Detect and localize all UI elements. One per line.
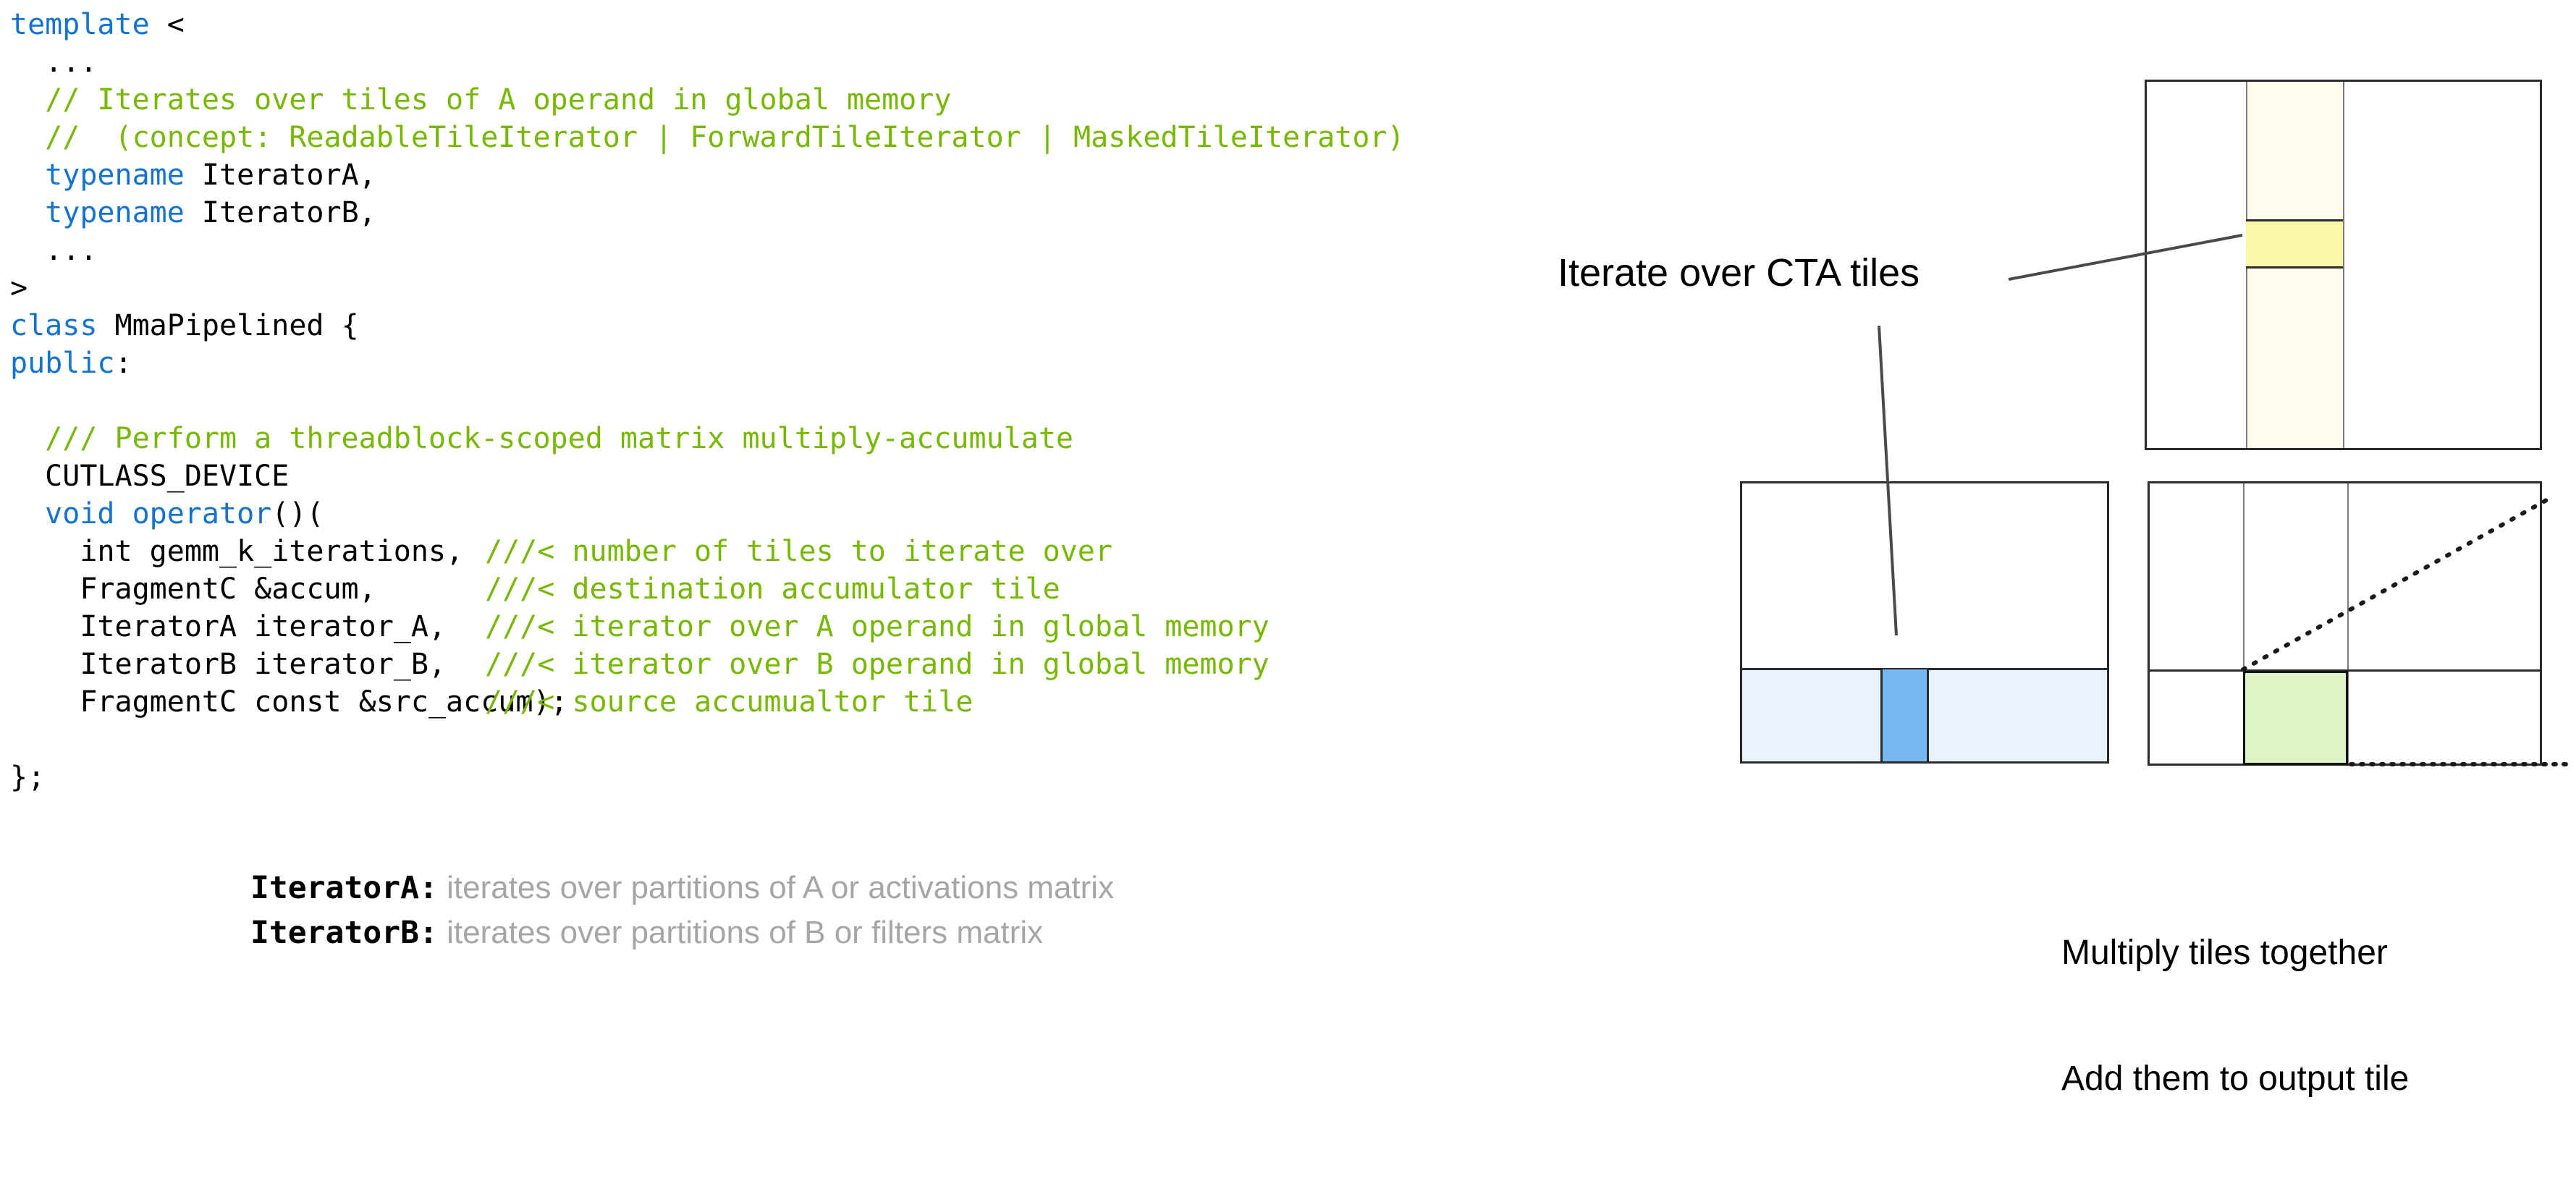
code-line: typename IteratorA, bbox=[10, 156, 376, 194]
code-line: ... bbox=[10, 232, 97, 269]
iterator-legend-name: IteratorA: bbox=[250, 870, 438, 906]
iterator-legend-name: IteratorB: bbox=[250, 915, 438, 951]
leader-line-to-b-tile bbox=[2009, 235, 2242, 279]
code-token-plain: IteratorA, bbox=[185, 158, 376, 192]
code-token-plain: }; bbox=[10, 761, 45, 794]
operand-b-column-left-divider bbox=[2246, 82, 2247, 448]
code-token-plain: IteratorB iterator_B, bbox=[10, 648, 446, 681]
code-token-plain: IteratorA iterator_A, bbox=[10, 610, 446, 643]
iterator-legend-description: iterates over partitions of B or filters… bbox=[438, 915, 1043, 950]
code-trailing-comment: ///< number of tiles to iterate over bbox=[485, 533, 1112, 570]
operand-a-cta-tile bbox=[1880, 669, 1929, 761]
multiply-tiles-line-1: Multiply tiles together bbox=[2061, 932, 2409, 974]
code-token-plain: int gemm_k_iterations, bbox=[10, 535, 463, 568]
code-token-plain: MmaPipelined { bbox=[97, 309, 358, 342]
code-token-plain: : bbox=[115, 347, 132, 380]
code-line: FragmentC &accum, bbox=[10, 570, 376, 608]
code-token-cmt: // Iterates over tiles of A operand in g… bbox=[10, 83, 951, 117]
code-line: void operator()( bbox=[10, 495, 324, 533]
code-line: int gemm_k_iterations, bbox=[10, 533, 463, 570]
code-token-kw: void operator bbox=[45, 497, 271, 530]
code-line: // (concept: ReadableTileIterator | Forw… bbox=[10, 119, 1405, 156]
output-column-left-divider bbox=[2243, 483, 2245, 764]
code-token-cmt: // (concept: ReadableTileIterator | Forw… bbox=[10, 121, 1405, 154]
code-token-kw: class bbox=[10, 309, 97, 342]
code-token-cmt: /// Perform a threadblock-scoped matrix … bbox=[10, 422, 1073, 455]
code-line: template < bbox=[10, 6, 185, 43]
code-token-kw: typename bbox=[45, 158, 185, 192]
output-accumulator-matrix bbox=[2148, 481, 2542, 766]
code-line: public: bbox=[10, 344, 132, 382]
code-trailing-comment: ///< iterator over A operand in global m… bbox=[485, 608, 1270, 646]
code-line: typename IteratorB, bbox=[10, 194, 376, 232]
code-token-kw: template bbox=[10, 8, 167, 41]
code-panel: template < ... // Iterates over tiles of… bbox=[0, 0, 1665, 840]
code-token-plain: IteratorB, bbox=[185, 196, 376, 229]
operand-a-matrix bbox=[1740, 481, 2109, 764]
code-trailing-comment: ///< source accumualtor tile bbox=[485, 683, 973, 721]
code-token-plain: ... bbox=[10, 234, 97, 267]
multiply-tiles-line-2: Add them to output tile bbox=[2061, 1058, 2409, 1100]
leader-line-to-a-tile bbox=[1879, 326, 1896, 635]
operand-b-column-right-divider bbox=[2343, 82, 2344, 448]
code-line: IteratorA iterator_A, bbox=[10, 608, 446, 646]
code-trailing-comment: ///< destination accumulator tile bbox=[485, 570, 1060, 608]
iterator-legend: IteratorA: iterates over partitions of A… bbox=[250, 866, 1409, 955]
output-row-divider bbox=[2148, 669, 2542, 672]
output-cta-tile bbox=[2243, 671, 2348, 765]
code-token-kw: public bbox=[10, 347, 115, 380]
code-token-plain: ()( bbox=[271, 497, 324, 530]
code-token-plain: > bbox=[10, 271, 28, 305]
multiply-tiles-caption: Multiply tiles together Add them to outp… bbox=[2061, 848, 2409, 1184]
code-line: > bbox=[10, 269, 28, 307]
iterator-legend-description: iterates over partitions of A or activat… bbox=[438, 870, 1114, 905]
output-column-right-divider bbox=[2347, 483, 2349, 764]
code-trailing-comment: ///< iterator over B operand in global m… bbox=[485, 646, 1270, 683]
code-token-plain: FragmentC &accum, bbox=[10, 572, 376, 606]
code-line: ... bbox=[10, 43, 97, 81]
code-token-kw: typename bbox=[45, 196, 185, 229]
code-token-plain bbox=[10, 497, 45, 530]
operand-b-matrix bbox=[2145, 80, 2542, 450]
iterator-legend-row: IteratorB: iterates over partitions of B… bbox=[250, 910, 1409, 955]
code-line: /// Perform a threadblock-scoped matrix … bbox=[10, 420, 1073, 457]
code-line: IteratorB iterator_B, bbox=[10, 646, 446, 683]
operand-a-row-divider bbox=[1740, 668, 2109, 670]
code-token-plain: CUTLASS_DEVICE bbox=[10, 460, 289, 493]
code-token-plain bbox=[10, 158, 45, 192]
iterator-legend-row: IteratorA: iterates over partitions of A… bbox=[250, 866, 1409, 910]
code-line: CUTLASS_DEVICE bbox=[10, 457, 289, 495]
code-token-plain: ... bbox=[10, 46, 97, 79]
code-line: }; bbox=[10, 758, 45, 796]
code-token-plain bbox=[10, 196, 45, 229]
code-line: class MmaPipelined { bbox=[10, 307, 359, 344]
operand-b-column-highlight bbox=[2246, 82, 2343, 448]
dotted-diagonal-guide bbox=[2243, 499, 2548, 669]
code-token-plain: < bbox=[167, 8, 185, 41]
operand-b-cta-tile bbox=[2246, 219, 2343, 268]
operand-a-row-highlight bbox=[1742, 669, 2107, 761]
code-line: // Iterates over tiles of A operand in g… bbox=[10, 81, 951, 119]
